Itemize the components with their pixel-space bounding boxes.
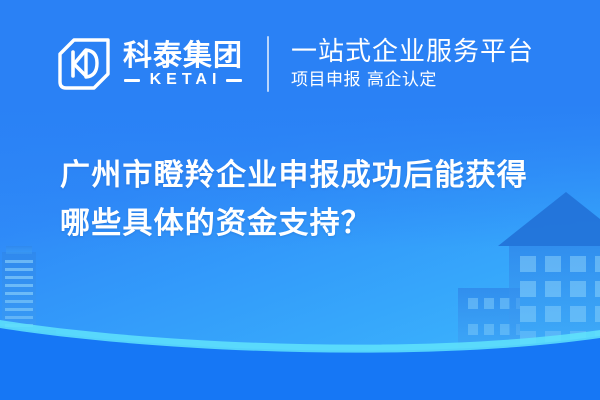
header-divider — [267, 36, 269, 92]
dash-left-icon — [124, 79, 140, 82]
brand-wordmark: 科泰集团 KETAI — [123, 40, 243, 88]
brand-name-cn: 科泰集团 — [123, 40, 243, 70]
header-title: 一站式企业服务平台 — [291, 38, 534, 66]
ketai-diamond-kp-logo-icon — [56, 36, 112, 92]
headline-line-1: 广州市瞪羚企业申报成功后能获得 — [60, 152, 570, 200]
headline-line-2: 哪些具体的资金支持？ — [60, 200, 570, 248]
banner-root: 科泰集团 KETAI 一站式企业服务平台 项目申报 高企认定 广州市瞪羚企业申报… — [0, 0, 600, 400]
brand-name-en: KETAI — [145, 72, 222, 88]
header-subtitle: 项目申报 高企认定 — [291, 71, 534, 90]
headline-block: 广州市瞪羚企业申报成功后能获得 哪些具体的资金支持？ — [60, 152, 570, 248]
banner-header: 科泰集团 KETAI 一站式企业服务平台 项目申报 高企认定 — [0, 0, 600, 128]
header-tagline-group: 一站式企业服务平台 项目申报 高企认定 — [291, 38, 534, 90]
dash-right-icon — [226, 79, 242, 82]
brand-logo[interactable]: 科泰集团 KETAI — [56, 36, 243, 92]
brand-name-en-row: KETAI — [123, 72, 243, 88]
